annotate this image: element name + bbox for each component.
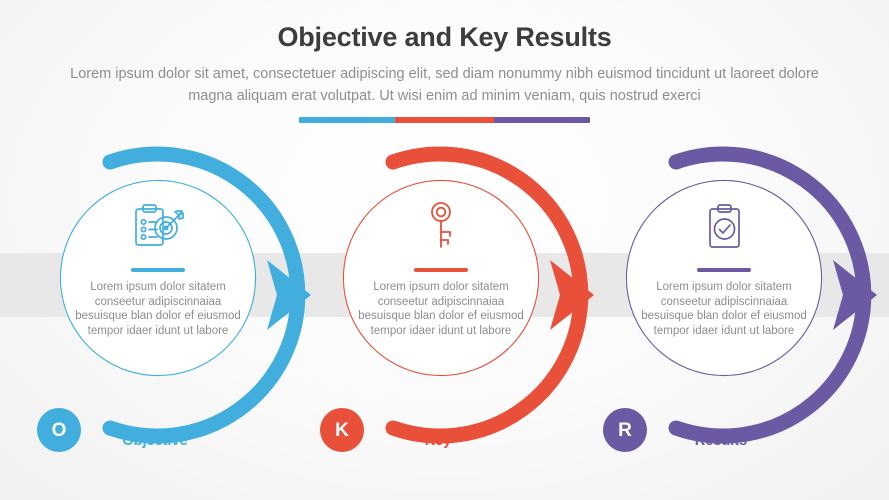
step-label-results: Results bbox=[571, 433, 871, 449]
okr-diagram: Lorem ipsum dolor sitatem conseetur adip… bbox=[0, 0, 889, 500]
icon-divider-rule bbox=[131, 268, 185, 272]
icon-divider-rule bbox=[414, 268, 468, 272]
step-label-objective: Objective bbox=[5, 433, 305, 449]
step-group-results[interactable]: Lorem ipsum dolor sitatem conseetur adip… bbox=[571, 150, 871, 440]
step-label-key: Key bbox=[288, 433, 588, 449]
step-body-text: Lorem ipsum dolor sitatem conseetur adip… bbox=[350, 280, 532, 338]
step-group-objective[interactable]: Lorem ipsum dolor sitatem conseetur adip… bbox=[5, 150, 305, 440]
step-body-text: Lorem ipsum dolor sitatem conseetur adip… bbox=[633, 280, 815, 338]
clipboard-check-icon bbox=[627, 194, 821, 258]
key-icon bbox=[344, 194, 538, 258]
step-group-key[interactable]: Lorem ipsum dolor sitatem conseetur adip… bbox=[288, 150, 588, 440]
clipboard-target-icon bbox=[61, 194, 255, 258]
step-body-text: Lorem ipsum dolor sitatem conseetur adip… bbox=[67, 280, 249, 338]
icon-divider-rule bbox=[697, 268, 751, 272]
